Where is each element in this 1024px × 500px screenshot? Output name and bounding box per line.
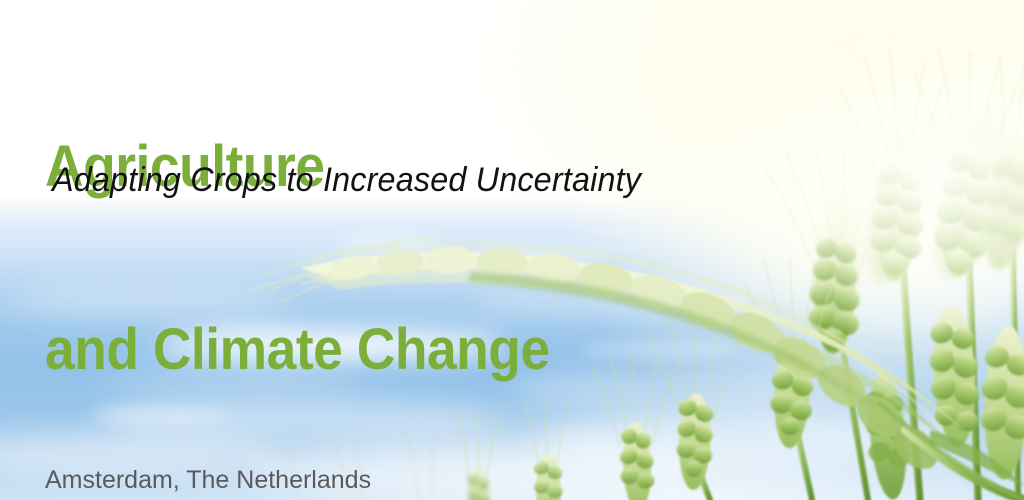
conference-banner: Agriculture and Climate Change Adapting … (0, 0, 1024, 500)
venue-location: Amsterdam, The Netherlands (45, 464, 371, 497)
title-line-2: and Climate Change (45, 319, 550, 380)
banner-subtitle: Adapting Crops to Increased Uncertainty (52, 160, 641, 200)
banner-venue-block: Amsterdam, The Netherlands 15-17 Februar… (45, 398, 371, 500)
